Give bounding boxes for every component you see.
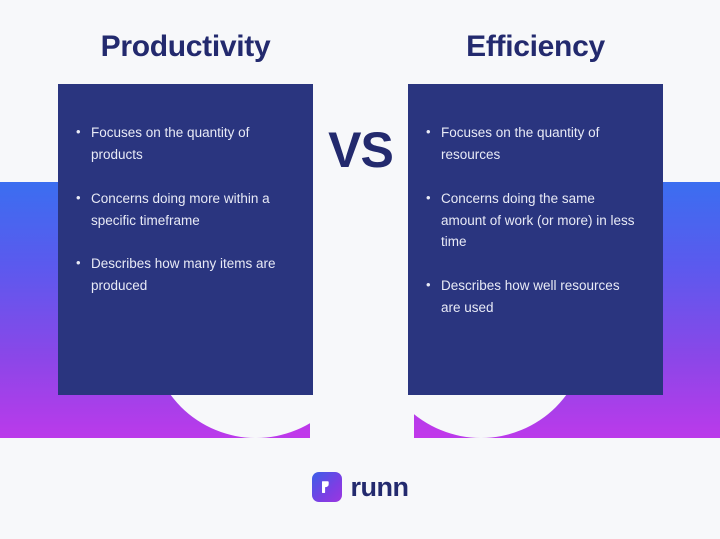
brand-name: runn [351,474,409,501]
productivity-bullet-list: Focuses on the quantity of products Conc… [74,122,291,297]
list-item: Concerns doing more within a specific ti… [74,188,291,232]
infographic-canvas: Productivity Efficiency Focuses on the q… [0,0,720,539]
brand-logo: runn [0,472,720,502]
heading-efficiency: Efficiency [408,30,663,64]
list-item: Focuses on the quantity of resources [424,122,641,166]
panel-productivity: Focuses on the quantity of products Conc… [58,84,313,395]
list-item: Describes how many items are produced [74,253,291,297]
efficiency-bullet-list: Focuses on the quantity of resources Con… [424,122,641,319]
background-center-gap [310,150,414,450]
panel-efficiency: Focuses on the quantity of resources Con… [408,84,663,395]
list-item: Focuses on the quantity of products [74,122,291,166]
vs-label: VS [313,125,408,175]
runn-logo-icon [312,472,342,502]
list-item: Describes how well resources are used [424,275,641,319]
heading-productivity: Productivity [58,30,313,64]
list-item: Concerns doing the same amount of work (… [424,188,641,254]
